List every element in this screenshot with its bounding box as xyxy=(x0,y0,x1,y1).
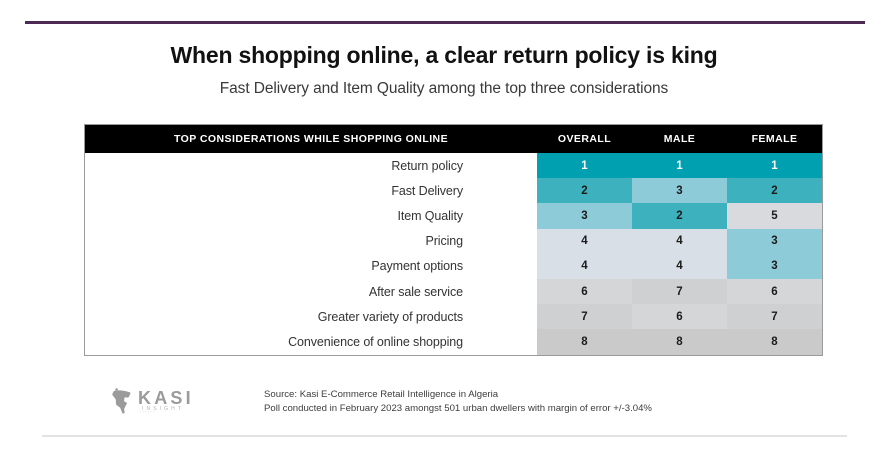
top-accent-rule xyxy=(25,21,865,24)
row-label: Return policy xyxy=(85,153,537,178)
logo-wordmark: KASI xyxy=(138,389,194,407)
rank-cell-male: 8 xyxy=(632,329,727,354)
rank-table-container: TOP CONSIDERATIONS WHILE SHOPPING ONLINE… xyxy=(84,124,823,356)
row-label: Payment options xyxy=(85,254,537,279)
rank-cell-female: 3 xyxy=(727,254,822,279)
row-label: Item Quality xyxy=(85,203,537,228)
page-subtitle: Fast Delivery and Item Quality among the… xyxy=(0,80,888,98)
rank-cell-overall: 8 xyxy=(537,329,632,354)
rank-cell-overall: 3 xyxy=(537,203,632,228)
rank-cell-overall: 4 xyxy=(537,254,632,279)
rank-cell-male: 2 xyxy=(632,203,727,228)
rank-cell-male: 4 xyxy=(632,254,727,279)
rank-cell-overall: 7 xyxy=(537,304,632,329)
row-label: Fast Delivery xyxy=(85,178,537,203)
rank-cell-female: 7 xyxy=(727,304,822,329)
column-header-considerations: TOP CONSIDERATIONS WHILE SHOPPING ONLINE xyxy=(85,125,537,153)
rank-cell-male: 6 xyxy=(632,304,727,329)
source-note: Source: Kasi E-Commerce Retail Intellige… xyxy=(264,388,652,415)
rank-cell-female: 3 xyxy=(727,229,822,254)
page-title: When shopping online, a clear return pol… xyxy=(0,42,888,69)
rank-cell-female: 5 xyxy=(727,203,822,228)
row-label: Pricing xyxy=(85,229,537,254)
rank-cell-overall: 1 xyxy=(537,153,632,178)
rank-cell-overall: 6 xyxy=(537,279,632,304)
table-row: Convenience of online shopping888 xyxy=(85,329,822,354)
africa-map-icon xyxy=(108,387,138,417)
table-header-row: TOP CONSIDERATIONS WHILE SHOPPING ONLINE… xyxy=(85,125,822,153)
row-label: Convenience of online shopping xyxy=(85,329,537,354)
table-row: Pricing443 xyxy=(85,229,822,254)
rank-cell-male: 3 xyxy=(632,178,727,203)
rank-cell-male: 1 xyxy=(632,153,727,178)
kasi-logo: KASI ...... INSIGHT xyxy=(108,386,224,420)
table-row: Return policy111 xyxy=(85,153,822,178)
logo-tagline: INSIGHT xyxy=(142,407,184,412)
table-row: Item Quality325 xyxy=(85,203,822,228)
bottom-divider xyxy=(42,435,847,437)
table-row: Fast Delivery232 xyxy=(85,178,822,203)
table-row: Greater variety of products767 xyxy=(85,304,822,329)
table-header: TOP CONSIDERATIONS WHILE SHOPPING ONLINE… xyxy=(85,125,822,153)
infographic-slide: When shopping online, a clear return pol… xyxy=(0,0,888,468)
table-row: After sale service676 xyxy=(85,279,822,304)
rank-cell-overall: 4 xyxy=(537,229,632,254)
rank-cell-male: 4 xyxy=(632,229,727,254)
rank-table: TOP CONSIDERATIONS WHILE SHOPPING ONLINE… xyxy=(85,125,822,355)
column-header-overall: OVERALL xyxy=(537,125,632,153)
table-row: Payment options443 xyxy=(85,254,822,279)
column-header-female: FEMALE xyxy=(727,125,822,153)
column-header-male: MALE xyxy=(632,125,727,153)
rank-cell-overall: 2 xyxy=(537,178,632,203)
footer: KASI ...... INSIGHT Source: Kasi E-Comme… xyxy=(84,384,823,428)
source-line-2: Poll conducted in February 2023 amongst … xyxy=(264,402,652,416)
rank-cell-female: 8 xyxy=(727,329,822,354)
rank-cell-male: 7 xyxy=(632,279,727,304)
rank-cell-female: 6 xyxy=(727,279,822,304)
rank-cell-female: 2 xyxy=(727,178,822,203)
table-body: Return policy111Fast Delivery232Item Qua… xyxy=(85,153,822,355)
row-label: Greater variety of products xyxy=(85,304,537,329)
rank-cell-female: 1 xyxy=(727,153,822,178)
source-line-1: Source: Kasi E-Commerce Retail Intellige… xyxy=(264,388,652,402)
row-label: After sale service xyxy=(85,279,537,304)
